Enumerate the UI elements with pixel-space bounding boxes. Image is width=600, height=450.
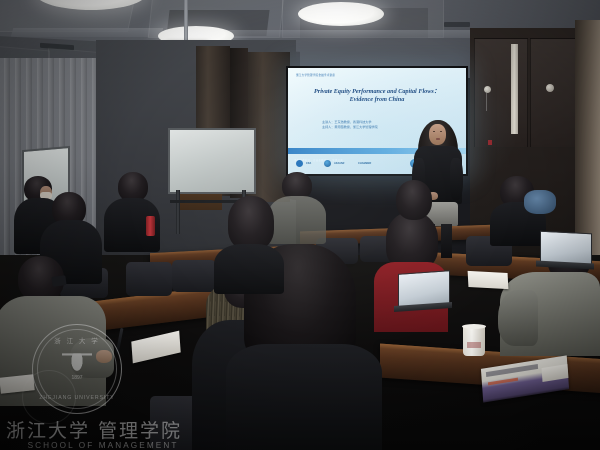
slide-header-text: 浙江大学管理学院金融学术讲座 (296, 73, 335, 77)
presenter-mouth (436, 138, 440, 140)
cfa-logo-label: CFA (306, 162, 311, 165)
chair (126, 262, 172, 296)
presenter-face (429, 124, 446, 145)
attendee-head (228, 196, 274, 250)
wall-knob (546, 84, 554, 92)
chair (172, 260, 216, 292)
afaanz-logo-label: AFAANZ (334, 162, 345, 165)
notepaper (468, 271, 509, 289)
blue-bag (524, 190, 556, 214)
wall-knob (484, 86, 491, 93)
paper-cup-print (467, 342, 481, 348)
ceiling-light-right (298, 2, 384, 26)
attendee-glasses (51, 275, 66, 287)
projector-mount-pole (184, 0, 188, 40)
slide-title-line1: Private Equity Performance and Capital F… (298, 88, 456, 96)
attendee-body (268, 196, 326, 244)
wall-cable (486, 93, 487, 111)
acoustic-panel (474, 38, 528, 148)
whiteboard-large-right (168, 128, 256, 194)
attendee-arm (498, 290, 538, 346)
wall-light-strip (511, 44, 518, 134)
afaanz-logo (324, 160, 331, 167)
attendee-hand (96, 350, 112, 363)
paper-cup-rim (462, 324, 486, 329)
slide-authors: 主讲人：王东浩教授、香港科技大学 主持人：黄南薇教授、浙江大学管理学院 (322, 120, 378, 131)
chamber-logo-label: CHAMBER (358, 162, 371, 165)
paper-cup (463, 326, 485, 356)
thermos-bottle (146, 216, 155, 236)
attendee-head (396, 180, 432, 220)
cfa-logo (296, 160, 303, 167)
presenter-leg (441, 224, 452, 258)
seminar-photograph: 浙江大学管理学院金融学术讲座 Private Equity Performanc… (0, 0, 600, 450)
slide-title: Private Equity Performance and Capital F… (288, 88, 466, 105)
slide-title-line2: Evidence from China (298, 96, 456, 104)
attendee-body (226, 344, 382, 450)
ceiling-vent (444, 22, 470, 27)
attendee-body (214, 244, 284, 294)
slide-author-host: 主持人：黄南薇教授、浙江大学管理学院 (322, 125, 378, 130)
wall-indicator (488, 140, 492, 145)
presenter-arm-right (450, 158, 463, 200)
whiteboard-leg (176, 190, 180, 234)
ceiling-beam (11, 28, 164, 37)
